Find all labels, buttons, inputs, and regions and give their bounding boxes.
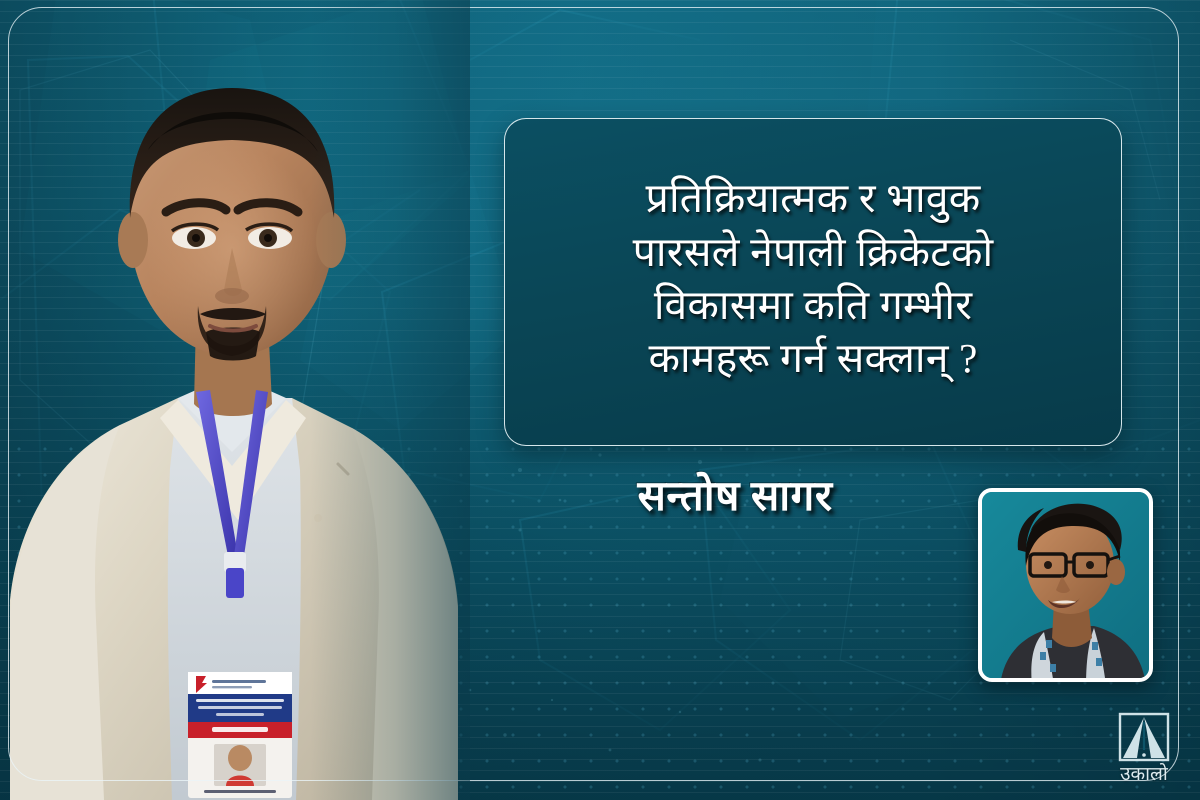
- portrait-edge-fade: [0, 0, 470, 800]
- quote-box: प्रतिक्रियात्मक र भावुक पारसले नेपाली क्…: [504, 118, 1122, 446]
- social-quote-card: प्रतिक्रियात्मक र भावुक पारसले नेपाली क्…: [0, 0, 1200, 800]
- speaker-name: सन्तोष सागर: [505, 466, 965, 523]
- quote-text: प्रतिक्रियात्मक र भावुक पारसले नेपाली क्…: [633, 172, 994, 385]
- brand-logo: उकालो: [1108, 712, 1180, 790]
- ukaalo-mountain-path-logo-icon: [1117, 712, 1171, 764]
- main-portrait-photo: [0, 0, 470, 800]
- inset-portrait-photo: [978, 488, 1153, 682]
- brand-logo-wordmark: उकालो: [1120, 765, 1168, 784]
